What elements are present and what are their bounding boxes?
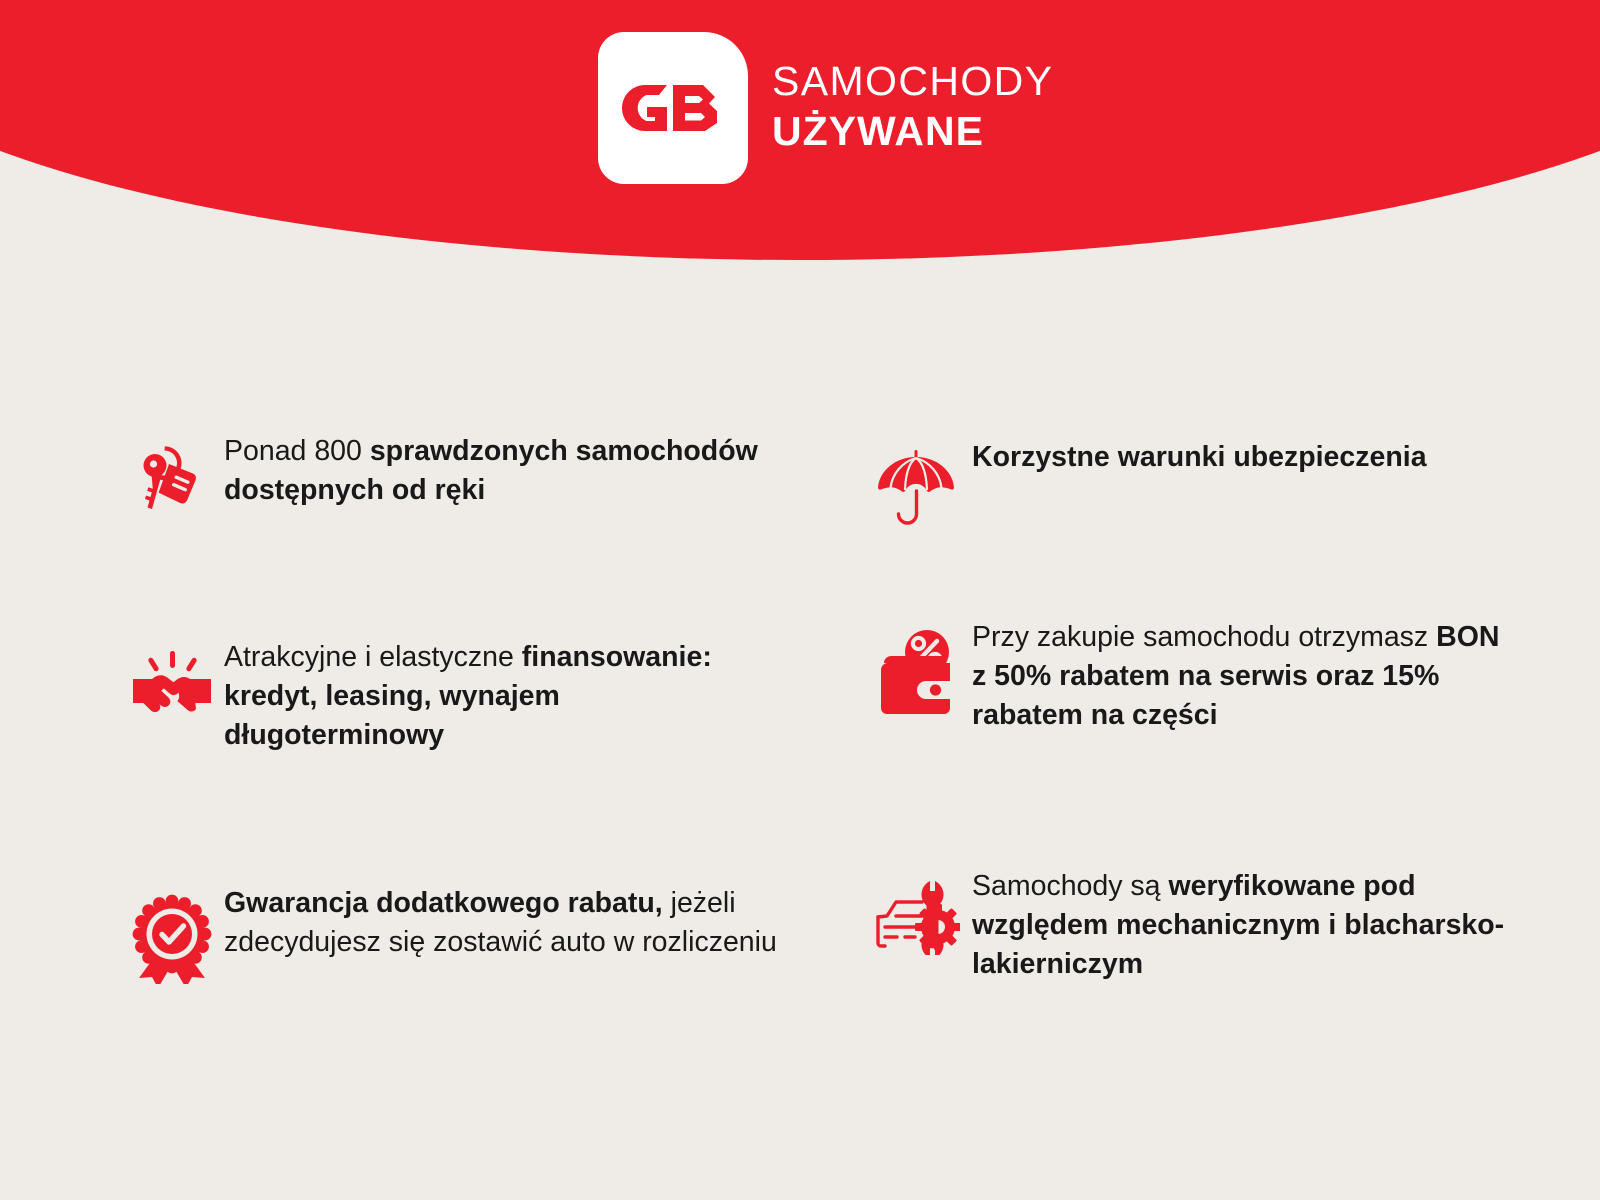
award-badge-icon xyxy=(120,882,224,984)
brand-line-1: SAMOCHODY xyxy=(772,61,1053,102)
features-right-column: Korzystne warunki ubezpieczenia xyxy=(860,430,1600,1008)
brand-wordmark: SAMOCHODY UŻYWANE xyxy=(772,61,1053,156)
feature-text-financing: Atrakcyjne i elastyczne finansowanie: kr… xyxy=(224,636,784,754)
feature-item-insurance: Korzystne warunki ubezpieczenia xyxy=(860,436,1600,586)
handshake-icon xyxy=(120,636,224,724)
feature-strong: Korzystne warunki ubezpieczenia xyxy=(972,441,1427,473)
feature-text-guarantee: Gwarancja dodatkowego rabatu, jeżeli zde… xyxy=(224,882,784,962)
feature-strong: Gwarancja dodatkowego rabatu, xyxy=(224,887,663,919)
brand-lockup: SAMOCHODY UŻYWANE xyxy=(598,32,1053,184)
header-banner: SAMOCHODY UŻYWANE xyxy=(0,0,1600,260)
feature-item-financing: Atrakcyjne i elastyczne finansowanie: kr… xyxy=(120,636,860,836)
features-grid: Ponad 800 sprawdzonych samochodów dostęp… xyxy=(0,430,1600,1008)
feature-lead: Przy zakupie samochodu otrzymasz xyxy=(972,621,1436,653)
feature-lead: Atrakcyjne i elastyczne xyxy=(224,641,522,673)
car-keys-icon xyxy=(120,430,224,518)
car-service-icon xyxy=(860,865,972,955)
feature-lead: Ponad 800 xyxy=(224,435,370,467)
brand-line-2: UŻYWANE xyxy=(772,111,1053,152)
feature-text-bonus: Przy zakupie samochodu otrzymasz BON z 5… xyxy=(972,616,1512,734)
feature-item-guarantee: Gwarancja dodatkowego rabatu, jeżeli zde… xyxy=(120,882,860,984)
umbrella-icon xyxy=(860,436,972,530)
feature-text-insurance: Korzystne warunki ubezpieczenia xyxy=(972,436,1427,477)
feature-item-bonus: Przy zakupie samochodu otrzymasz BON z 5… xyxy=(860,616,1600,831)
features-left-column: Ponad 800 sprawdzonych samochodów dostęp… xyxy=(120,430,860,1008)
feature-item-verification: Samochody są weryfikowane pod względem m… xyxy=(860,865,1600,983)
wallet-percent-icon xyxy=(860,616,972,714)
feature-text-verification: Samochody są weryfikowane pod względem m… xyxy=(972,865,1512,983)
gb-monogram-logo xyxy=(598,32,748,184)
feature-text-keys: Ponad 800 sprawdzonych samochodów dostęp… xyxy=(224,430,784,510)
feature-item-keys: Ponad 800 sprawdzonych samochodów dostęp… xyxy=(120,430,860,590)
feature-lead: Samochody są xyxy=(972,870,1168,902)
